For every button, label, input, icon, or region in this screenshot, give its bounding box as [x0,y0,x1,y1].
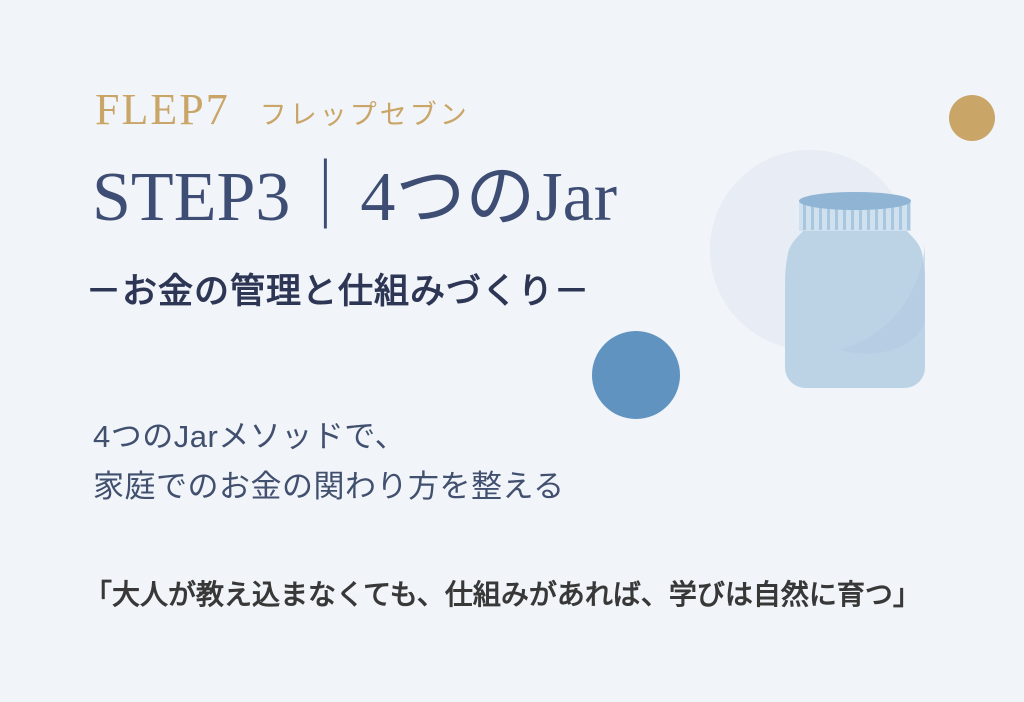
brand-kana: フレップセブン [260,102,470,129]
page-title: STEP3｜4つのJar [92,163,617,233]
page-subtitle: －お金の管理と仕組みづくり－ [86,270,590,314]
lead-line-1: 4つのJarメソッドで、 [93,412,565,462]
brand-name: FLEP7 [95,88,230,132]
jar-lid-top [799,192,911,210]
gold-circle [949,95,995,141]
lead-line-2: 家庭でのお金の関わり方を整える [93,462,565,512]
brand-row: FLEP7 フレップセブン [95,88,470,132]
slide-canvas: FLEP7 フレップセブン STEP3｜4つのJar －お金の管理と仕組みづくり… [0,0,1024,702]
quote-text: 「大人が教え込まなくても、仕組みがあれば、学びは自然に育つ」 [84,578,921,612]
blue-circle [592,331,680,419]
lead-paragraph: 4つのJarメソッドで、 家庭でのお金の関わり方を整える [93,412,565,512]
jar-illustration [770,185,940,400]
